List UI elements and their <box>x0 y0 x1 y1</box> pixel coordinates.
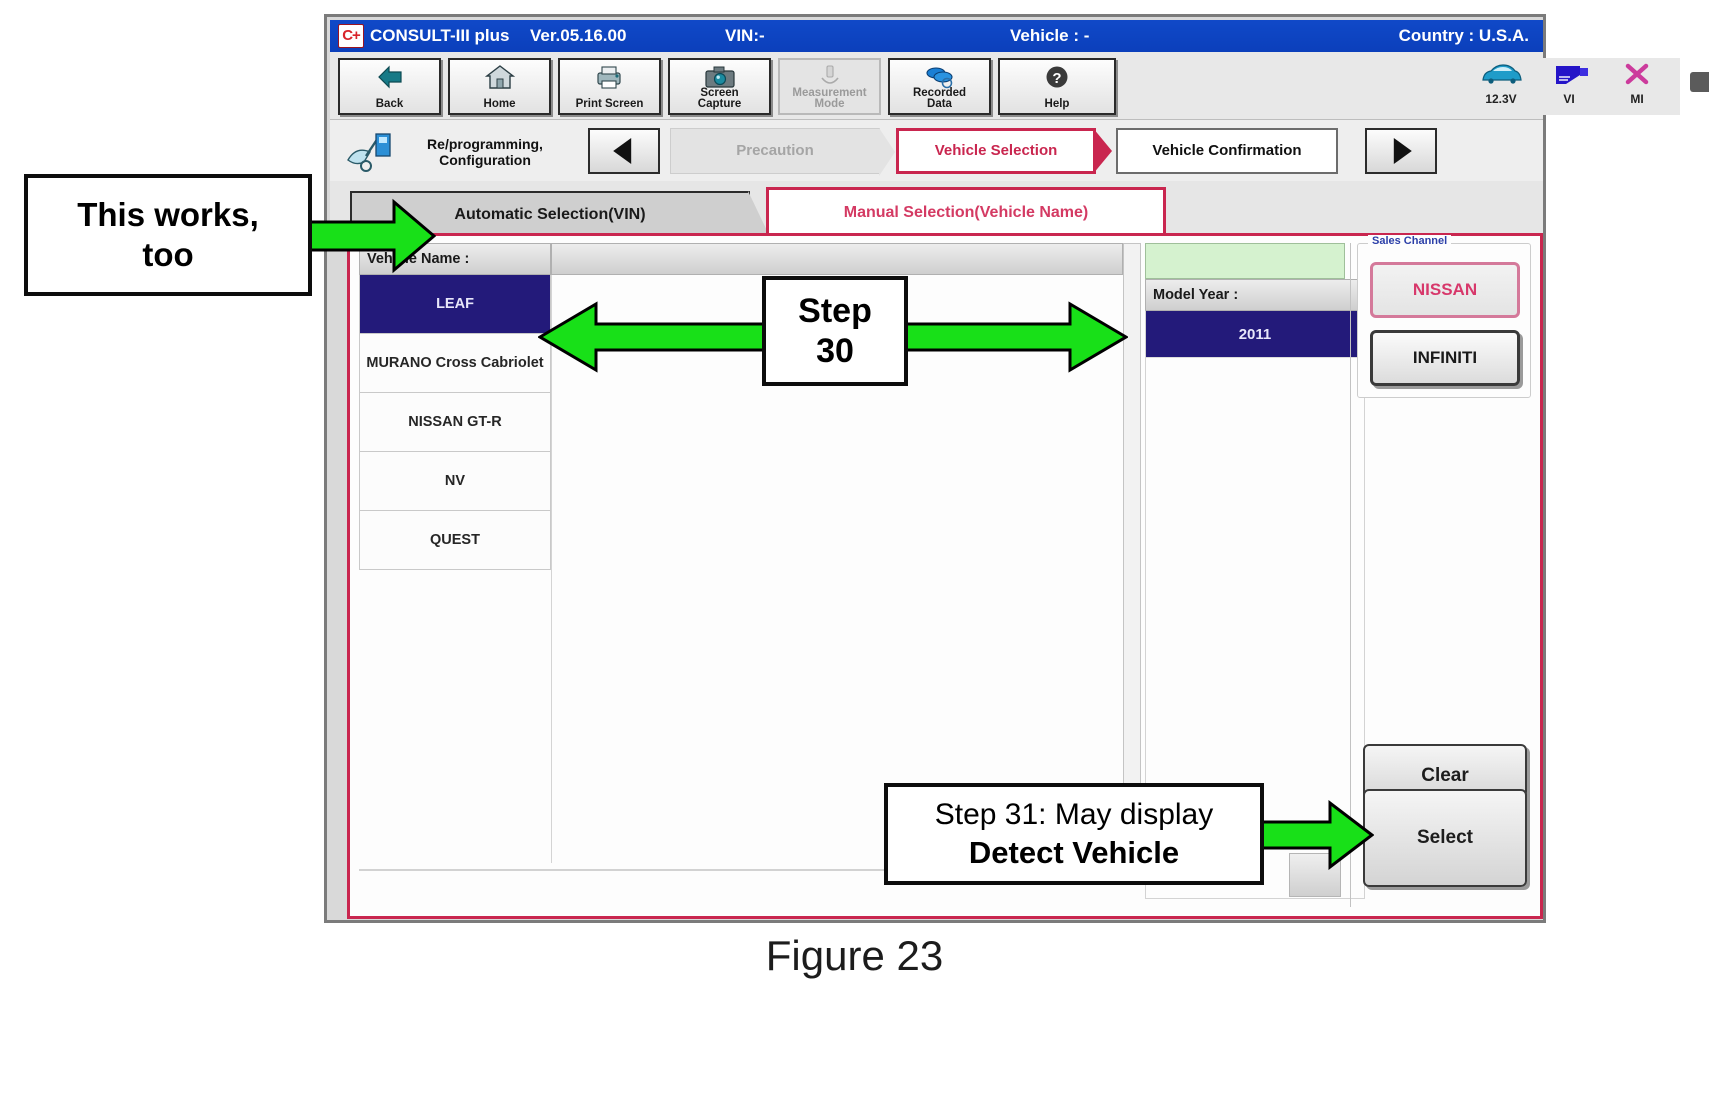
reprogramming-icon <box>344 130 404 174</box>
callout-step31-line2: Detect Vehicle <box>969 834 1179 872</box>
figure-caption: Figure 23 <box>0 932 1709 980</box>
mi-status: MI <box>1606 60 1668 106</box>
vehicle-readout: Vehicle : - <box>1010 26 1089 46</box>
select-button[interactable]: Select <box>1363 789 1527 887</box>
sales-channel-infiniti-button[interactable]: INFINITI <box>1370 330 1520 386</box>
printer-icon <box>560 64 659 92</box>
detected-vehicle-field <box>1145 243 1345 279</box>
back-button[interactable]: Back <box>338 58 441 115</box>
voltage-status: 12.3V <box>1470 60 1532 106</box>
tab-manual-selection[interactable]: Manual Selection(Vehicle Name) <box>766 187 1166 237</box>
breadcrumb-forward-button[interactable] <box>1365 128 1437 174</box>
back-arrow-icon <box>340 64 439 92</box>
app-version: Ver.05.16.00 <box>530 26 626 46</box>
callout-step-31: Step 31: May display Detect Vehicle <box>884 783 1264 885</box>
vehicle-list-item-nv[interactable]: NV <box>359 452 551 511</box>
title-bar: C+ CONSULT-III plus Ver.05.16.00 VIN:- V… <box>330 20 1543 52</box>
right-control-column: Sales Channel NISSAN INFINITI Clear Sele… <box>1357 243 1531 907</box>
measurement-mode-button-label: MeasurementMode <box>780 88 879 110</box>
screen-capture-button-label: ScreenCapture <box>670 88 769 110</box>
chevron-right-icon <box>1394 138 1412 164</box>
green-arrow-left-to-vehicle-list <box>538 300 778 374</box>
chevron-left-icon <box>613 138 631 164</box>
vehicle-list-item-leaf[interactable]: LEAF <box>359 275 551 334</box>
model-year-item-2011[interactable]: 2011 <box>1146 311 1364 358</box>
recorded-data-button[interactable]: RecordedData <box>888 58 991 115</box>
vehicle-name-column: Vehicle Name : LEAF MURANO Cross Cabriol… <box>359 243 551 570</box>
screen-capture-button[interactable]: ScreenCapture <box>668 58 771 115</box>
consult-logo-text: C+ <box>339 25 363 47</box>
vehicle-name-header-extension <box>551 243 1123 275</box>
help-icon: ? <box>1000 64 1114 92</box>
sales-channel-nissan-button[interactable]: NISSAN <box>1370 262 1520 318</box>
home-button[interactable]: Home <box>448 58 551 115</box>
print-screen-button-label: Print Screen <box>560 99 659 110</box>
green-arrow-right-to-model-year <box>902 300 1128 374</box>
callout-step31-line1: Step 31: May display <box>935 796 1213 834</box>
help-button[interactable]: ? Help <box>998 58 1116 115</box>
mi-x-icon <box>1606 60 1668 92</box>
callout-this-works-too: This works, too <box>24 174 312 296</box>
callout-step30-line1: Step <box>798 291 872 331</box>
callout-step-30: Step 30 <box>762 276 908 386</box>
vi-device-icon <box>1538 60 1600 92</box>
vi-status: VI <box>1538 60 1600 106</box>
car-icon <box>1470 60 1532 92</box>
selection-tabs: Automatic Selection(VIN) Manual Selectio… <box>330 181 1543 237</box>
reprogramming-label: Re/programming,Configuration <box>410 136 560 168</box>
mi-label: MI <box>1606 92 1668 106</box>
green-arrow-right-to-automatic-tab <box>306 196 436 276</box>
measurement-mode-button[interactable]: MeasurementMode <box>778 58 881 115</box>
breadcrumb-back-button[interactable] <box>588 128 660 174</box>
print-screen-button[interactable]: Print Screen <box>558 58 661 115</box>
breadcrumb-step-precaution[interactable]: Precaution <box>670 128 880 174</box>
consult-logo-icon: C+ <box>338 24 364 48</box>
callout-line2: too <box>142 235 193 275</box>
home-button-label: Home <box>450 99 549 110</box>
vehicle-list-item-murano-cross-cabriolet[interactable]: MURANO Cross Cabriolet <box>359 334 551 393</box>
voltage-label: 12.3V <box>1470 92 1532 106</box>
sales-channel-group: Sales Channel NISSAN INFINITI <box>1357 243 1531 398</box>
callout-line1: This works, <box>77 195 259 235</box>
breadcrumb: Re/programming,Configuration Precaution … <box>330 119 1543 182</box>
vin-readout: VIN:- <box>725 26 765 46</box>
breadcrumb-step-vehicle-selection[interactable]: Vehicle Selection <box>896 128 1096 174</box>
vehicle-list-item-nissan-gt-r[interactable]: NISSAN GT-R <box>359 393 551 452</box>
sales-channel-legend: Sales Channel <box>1368 235 1451 247</box>
country-readout: Country : U.S.A. <box>1399 26 1529 46</box>
status-cluster: 12.3V VI MI <box>1470 58 1680 115</box>
callout-step30-line2: 30 <box>816 331 854 371</box>
main-toolbar: Back Home Print Screen ScreenCapture <box>330 52 1543 119</box>
back-button-label: Back <box>340 99 439 110</box>
recorded-data-button-label: RecordedData <box>890 88 989 110</box>
help-button-label: Help <box>1000 99 1114 110</box>
app-name: CONSULT-III plus <box>370 26 509 46</box>
vi-label: VI <box>1538 92 1600 106</box>
green-arrow-right-to-select-button <box>1258 800 1374 870</box>
vehicle-list-item-quest[interactable]: QUEST <box>359 511 551 570</box>
breadcrumb-step-vehicle-confirmation[interactable]: Vehicle Confirmation <box>1116 128 1338 174</box>
home-icon <box>450 64 549 92</box>
battery-icon <box>1690 72 1709 92</box>
svg-text:?: ? <box>1052 70 1061 87</box>
model-year-header: Model Year : <box>1145 279 1365 311</box>
